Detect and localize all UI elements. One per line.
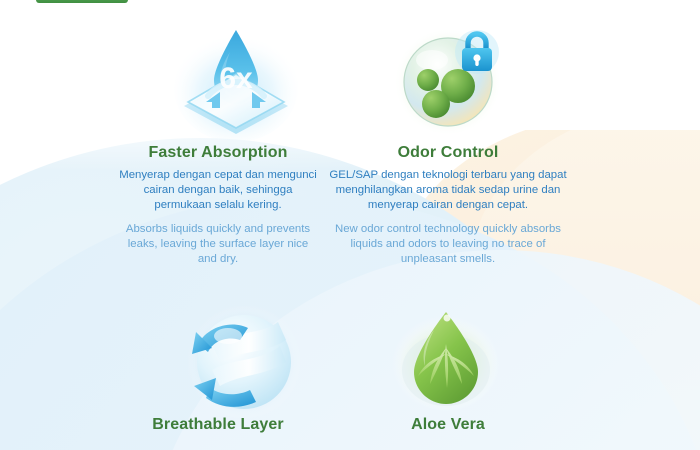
feature-title: Aloe Vera [322,416,574,434]
feature-title: Faster Absorption [118,144,318,162]
aloe-drop-icon [390,304,502,418]
airflow-sphere-icon [182,300,306,420]
feature-paragraph-id: GEL/SAP dengan teknologi terbaru yang da… [322,168,574,213]
feature-breathable-layer: Breathable Layer [118,416,318,440]
bubble-lock-icon [392,22,508,138]
feature-title: Odor Control [322,144,574,162]
feature-paragraph-en: Absorbs liquids quickly and prevents lea… [118,222,318,267]
feature-odor-control: Odor Control GEL/SAP dengan teknologi te… [322,144,574,268]
feature-faster-absorption: Faster Absorption Menyerap dengan cepat … [118,144,318,268]
white-top-band [0,0,700,130]
top-green-bar [36,0,128,3]
infographic-canvas: 6x [0,0,700,450]
feature-paragraph-en: New odor control technology quickly abso… [322,222,574,267]
feature-aloe-vera: Aloe Vera [322,416,574,440]
feature-paragraph-id: Menyerap dengan cepat dan mengunci caira… [118,168,318,213]
icon-label-6x: 6x [219,62,253,95]
feature-title: Breathable Layer [118,416,318,434]
water-drop-6x-icon: 6x [172,22,300,144]
